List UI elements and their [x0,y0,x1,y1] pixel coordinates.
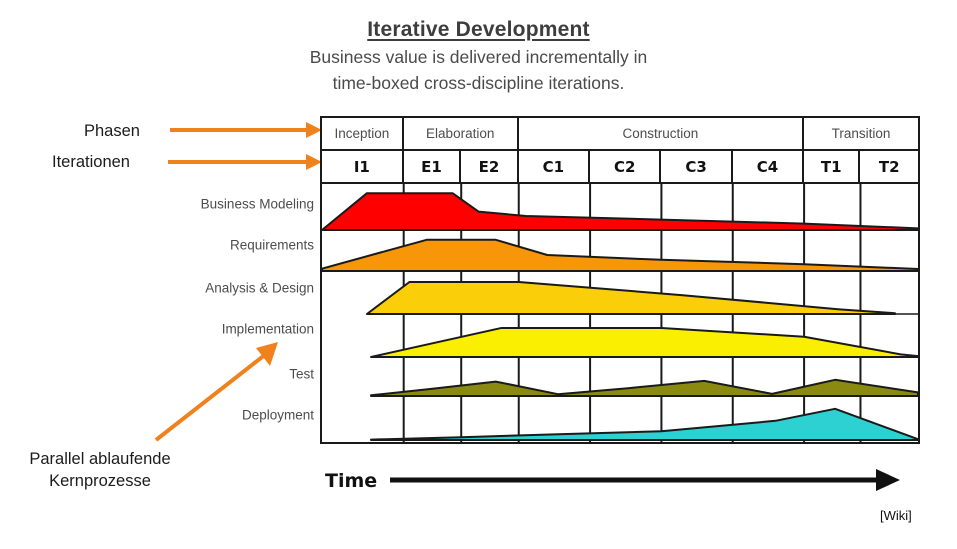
iteration-header-label: C4 [757,158,778,176]
time-axis-arrow-icon [390,468,900,492]
heading-block: Iterative Development Business value is … [0,18,957,95]
hump-requirements [322,240,918,271]
page-title: Iterative Development [0,18,957,42]
iteration-header-label: E2 [479,158,500,176]
iteration-header-c4[interactable]: C4 [733,151,804,184]
iteration-header-label: T2 [879,158,900,176]
time-axis-label: Time [325,470,377,492]
iteration-header-t2[interactable]: T2 [860,151,918,184]
phase-header-label: Inception [334,126,389,141]
iteration-header-label: C2 [614,158,635,176]
annotation-phases: Phasen [84,122,140,141]
phase-header-label: Construction [623,126,699,141]
annotation-parallel-line2: Kernprozesse [49,472,151,490]
discipline-label-business-modeling: Business Modeling [201,197,314,212]
phase-header-inception[interactable]: Inception [322,118,404,151]
hump-deployment [371,409,918,440]
iteration-header-e2[interactable]: E2 [461,151,519,184]
hump-implementation [371,328,918,357]
iteration-header-c2[interactable]: C2 [590,151,661,184]
arrow-iterations-icon [168,150,322,174]
phase-header-elaboration[interactable]: Elaboration [404,118,519,151]
attribution-label: [Wiki] [880,508,912,523]
iteration-header-label: T1 [821,158,842,176]
iteration-header-label: C1 [543,158,564,176]
iteration-header-label: I1 [354,158,370,176]
annotation-iterations: Iterationen [52,153,130,172]
discipline-label-implementation: Implementation [222,322,314,337]
discipline-hump-plot [322,184,918,442]
iteration-header-e1[interactable]: E1 [404,151,462,184]
annotation-parallel-processes: Parallel ablaufende Kernprozesse [2,448,198,493]
iteration-header-label: C3 [685,158,706,176]
discipline-label-deployment: Deployment [242,408,314,423]
iteration-header-i1[interactable]: I1 [322,151,404,184]
page-subtitle-line2: time-boxed cross-discipline iterations. [0,72,957,94]
discipline-label-analysis-design: Analysis & Design [205,281,314,296]
discipline-label-test: Test [289,367,314,382]
annotation-parallel-line1: Parallel ablaufende [29,450,170,468]
discipline-label-column: Business Modeling Requirements Analysis … [150,180,318,444]
page-subtitle-line1: Business value is delivered incrementall… [0,46,957,68]
iteration-header-c3[interactable]: C3 [661,151,732,184]
iteration-header-t1[interactable]: T1 [804,151,860,184]
iteration-chart: InceptionElaborationConstructionTransiti… [320,116,920,444]
hump-business-modeling [322,193,918,230]
iteration-header-c1[interactable]: C1 [519,151,590,184]
arrow-phases-icon [170,118,322,142]
phase-header-transition[interactable]: Transition [804,118,918,151]
phase-header-label: Elaboration [426,126,494,141]
iteration-header-label: E1 [421,158,442,176]
hump-analysis-design [367,282,895,314]
phase-header-label: Transition [832,126,891,141]
hump-test [371,380,918,396]
phase-header-construction[interactable]: Construction [519,118,804,151]
discipline-label-requirements: Requirements [230,238,314,253]
